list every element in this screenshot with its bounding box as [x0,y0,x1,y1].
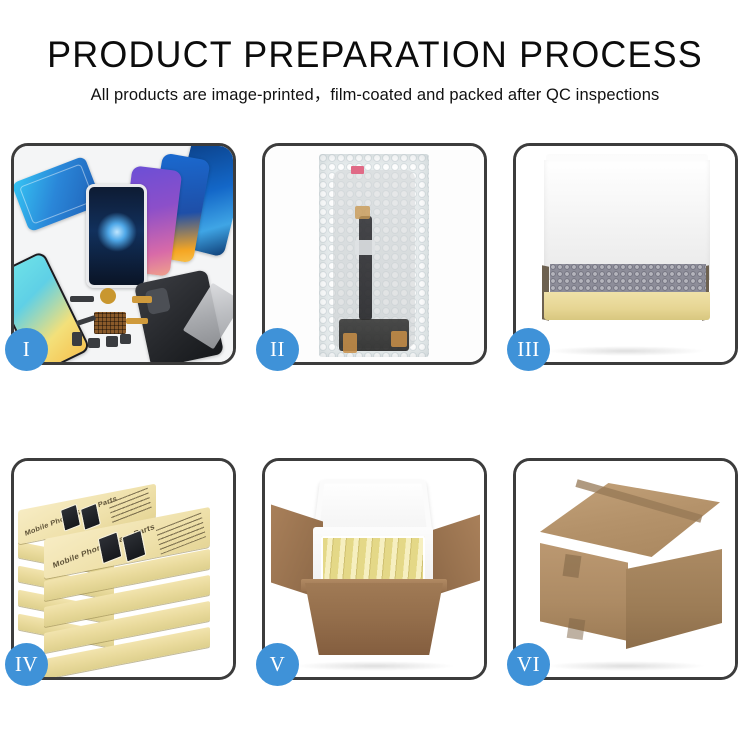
carton-tab-upper [563,554,582,578]
inner-box-front-yellow [544,292,710,320]
step-badge-3: III [507,328,550,371]
part-button-bracket [106,336,118,347]
process-step-grid: I II [11,143,739,680]
box-shadow-3 [546,346,706,356]
step-4-photo-stacked-retail-boxes: Mobile Phone Spare Parts Mobile Phone Sp… [14,461,233,677]
part-connector-grid [94,312,126,334]
step-badge-1: I [5,328,48,371]
step-3-image-clip [516,146,735,362]
part-camera-module [72,332,82,346]
part-sim-tray [120,334,131,344]
process-step-panel-1[interactable]: I [11,143,236,365]
part-vibrator [88,338,100,348]
box-shadow-6 [546,661,706,671]
inner-box-lid [544,160,710,280]
retail-box-stack: Mobile Phone Spare Parts Mobile Phone Sp… [16,483,232,673]
step-5-image-clip [265,461,484,677]
step-2-image-clip [265,146,484,362]
page-header: PRODUCT PREPARATION PROCESS All products… [0,0,750,106]
process-step-panel-6[interactable]: VI [513,458,738,680]
step-4-image-clip: Mobile Phone Spare Parts Mobile Phone Sp… [14,461,233,677]
retail-box-spec-lines-front [156,512,206,554]
kapton-tape-right [391,331,407,347]
bubble-wrap-bag [319,154,429,357]
step-3-photo-open-box-with-foam [516,146,735,362]
process-step-panel-3[interactable]: III [513,143,738,365]
step-5-photo-carton-with-foam-insert [265,461,484,677]
step-6-image-clip [516,461,735,677]
kapton-tape-upper [355,206,370,219]
step-1-image-clip [14,146,233,362]
carton-side-face [626,549,722,649]
foam-lid-open [313,480,432,534]
process-step-panel-4[interactable]: Mobile Phone Spare Parts Mobile Phone Sp… [11,458,236,680]
carton-body-front [305,583,443,655]
step-1-photo-parts-layout [14,146,233,362]
process-step-panel-2[interactable]: II [262,143,487,365]
part-gold-coil [100,288,116,304]
step-badge-5: V [256,643,299,686]
step-badge-2: II [256,328,299,371]
lcd-flex-cable [359,216,372,320]
box-shadow-5 [295,661,455,671]
yellow-boxes-inside [321,536,425,585]
step-badge-6: VI [507,643,550,686]
process-step-panel-5[interactable]: V [262,458,487,680]
part-speaker-mesh [70,296,94,302]
part-flex-ribbon [132,296,152,303]
lcd-connector [355,240,375,255]
page-subtitle: All products are image-printed，film-coat… [0,84,750,106]
part-flex-small-b [126,318,148,324]
step-badge-4: IV [5,643,48,686]
step-6-photo-sealed-shipping-carton [516,461,735,677]
page-title: PRODUCT PREPARATION PROCESS [11,34,739,76]
carton-tab-lower [567,618,586,640]
step-2-photo-bubble-wrapped-screen [265,146,484,362]
kapton-tape-left [343,333,357,353]
qc-pink-label [351,166,364,174]
grey-foam-padding [550,264,706,294]
phone-screen-glass [86,184,147,288]
